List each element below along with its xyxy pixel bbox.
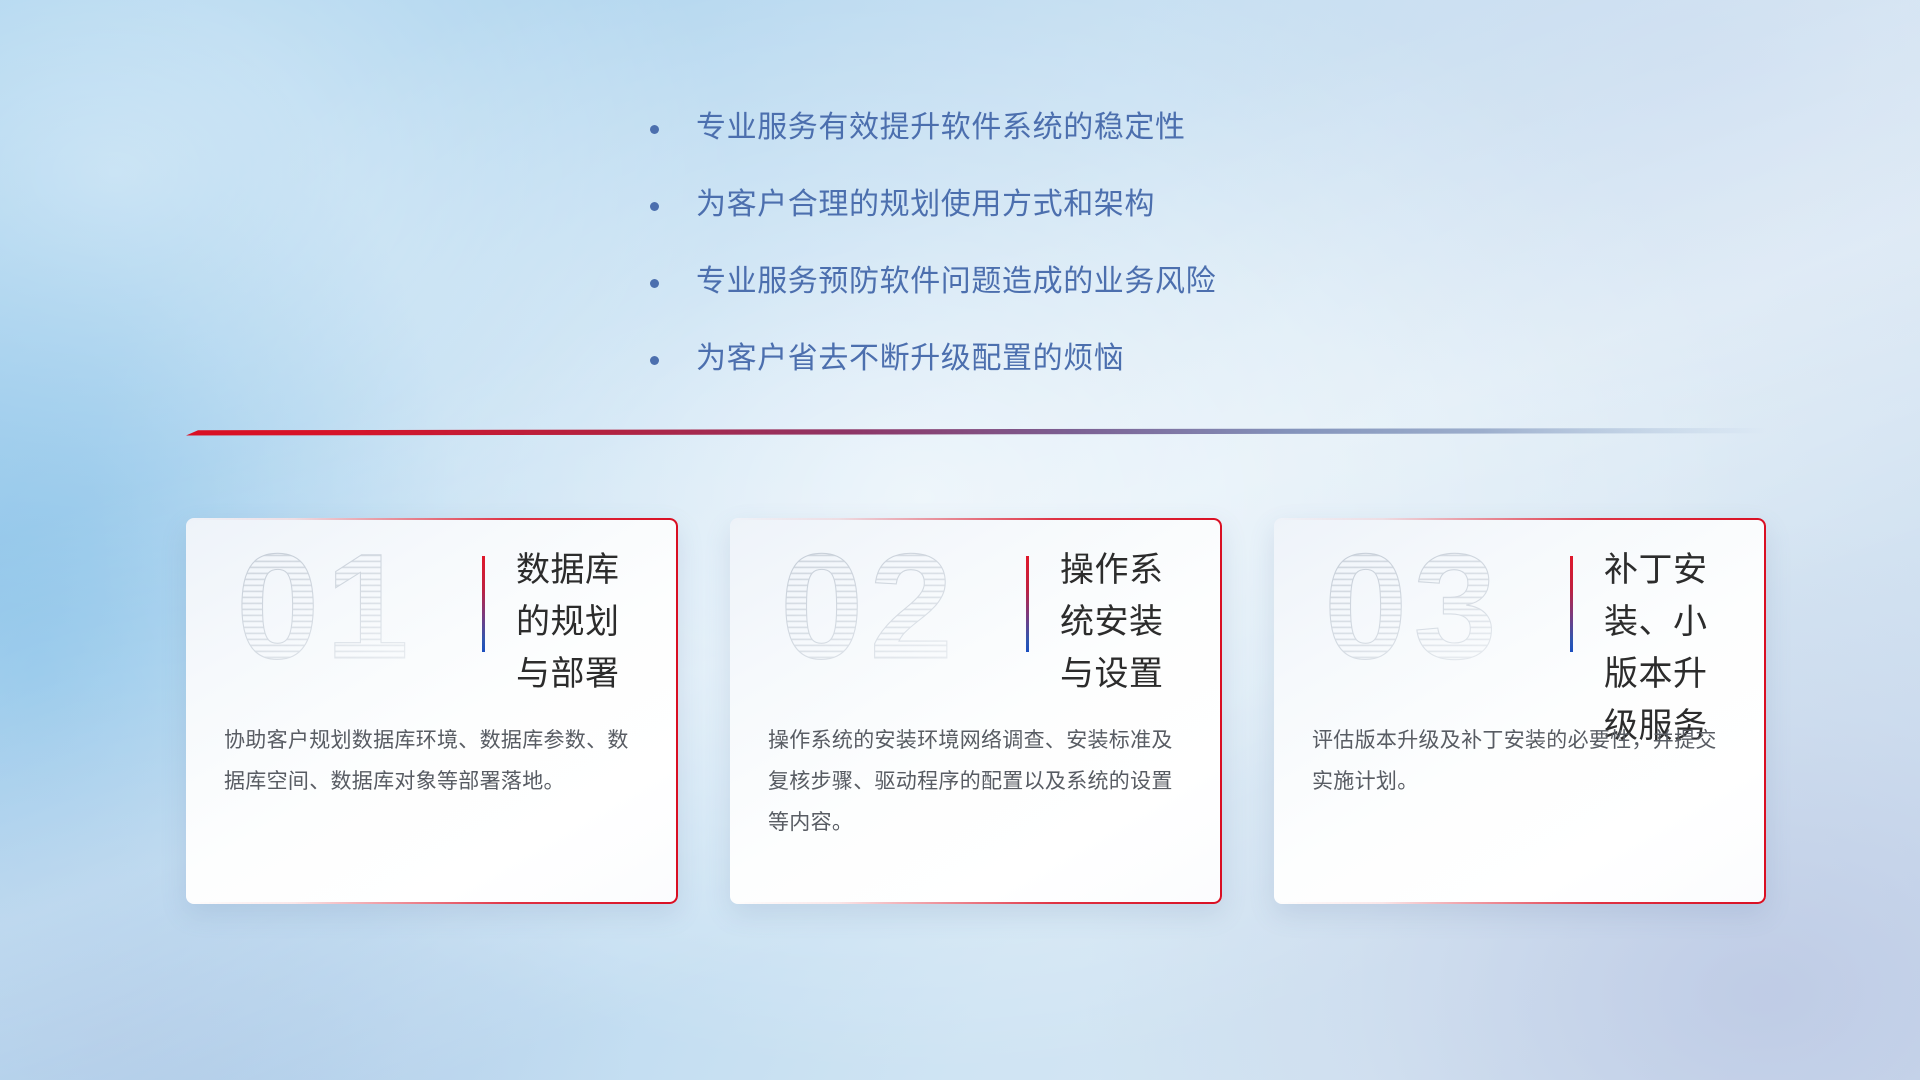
bullet-point-icon — [650, 279, 659, 288]
card-number-watermark: 03 — [1320, 536, 1570, 686]
service-card[interactable]: 03 补丁安装、小 版本升级服务 评估版本升级及补丁安装的必要性，并提交实施计划… — [1274, 518, 1766, 904]
card-number-watermark: 01 — [232, 536, 482, 686]
bullet-text: 为客户合理的规划使用方式和架构 — [696, 181, 1155, 229]
card-accent-bar — [1026, 556, 1029, 652]
list-item: 为客户省去不断升级配置的烦恼 — [650, 335, 1216, 383]
list-item: 为客户合理的规划使用方式和架构 — [650, 181, 1216, 229]
card-number-watermark: 02 — [776, 536, 1026, 686]
card-description: 协助客户规划数据库环境、数据库参数、数据库空间、数据库对象等部署落地。 — [224, 720, 644, 802]
list-item: 专业服务有效提升软件系统的稳定性 — [650, 104, 1216, 152]
section-divider — [186, 424, 1766, 440]
hatched-number-icon: 01 — [232, 536, 482, 686]
service-card[interactable]: 02 操作系统安装 与设置 操作系统的安装环境网络调查、安装标准及复核步骤、驱动… — [730, 518, 1222, 904]
key-points-list: 专业服务有效提升软件系统的稳定性 为客户合理的规划使用方式和架构 专业服务预防软… — [650, 104, 1216, 412]
list-item: 专业服务预防软件问题造成的业务风险 — [650, 258, 1216, 306]
svg-text:01: 01 — [236, 536, 415, 686]
card-description: 操作系统的安装环境网络调查、安装标准及复核步骤、驱动程序的配置以及系统的设置等内… — [768, 720, 1188, 843]
svg-text:02: 02 — [780, 536, 959, 686]
card-header: 02 操作系统安装 与设置 — [768, 518, 1184, 700]
bullet-point-icon — [650, 356, 659, 365]
card-title-line-2: 与设置 — [1060, 648, 1184, 700]
card-title-line-2: 与部署 — [516, 648, 640, 700]
bullet-point-icon — [650, 125, 659, 134]
card-header: 01 数据库的规划 与部署 — [224, 518, 640, 700]
service-cards-row: 01 数据库的规划 与部署 协助客户规划数据库环境、数据库参数、数据库空间、数据… — [186, 518, 1766, 918]
card-accent-bar — [482, 556, 485, 652]
card-header: 03 补丁安装、小 版本升级服务 — [1312, 518, 1728, 700]
bullet-text: 专业服务预防软件问题造成的业务风险 — [696, 258, 1216, 306]
hatched-number-icon: 02 — [776, 536, 1026, 686]
card-title: 数据库的规划 与部署 — [516, 544, 640, 700]
card-title-line-1: 数据库的规划 — [516, 544, 640, 648]
hatched-number-icon: 03 — [1320, 536, 1570, 686]
card-title: 操作系统安装 与设置 — [1060, 544, 1184, 700]
card-title-line-1: 操作系统安装 — [1060, 544, 1184, 648]
bullet-text: 为客户省去不断升级配置的烦恼 — [696, 335, 1124, 383]
card-accent-bar — [1570, 556, 1573, 652]
service-card[interactable]: 01 数据库的规划 与部署 协助客户规划数据库环境、数据库参数、数据库空间、数据… — [186, 518, 678, 904]
bullet-text: 专业服务有效提升软件系统的稳定性 — [696, 104, 1186, 152]
svg-text:03: 03 — [1324, 536, 1503, 686]
card-title-line-1: 补丁安装、小 — [1604, 544, 1728, 648]
bullet-point-icon — [650, 202, 659, 211]
divider-shape-icon — [186, 424, 1766, 440]
card-description: 评估版本升级及补丁安装的必要性，并提交实施计划。 — [1312, 720, 1732, 802]
